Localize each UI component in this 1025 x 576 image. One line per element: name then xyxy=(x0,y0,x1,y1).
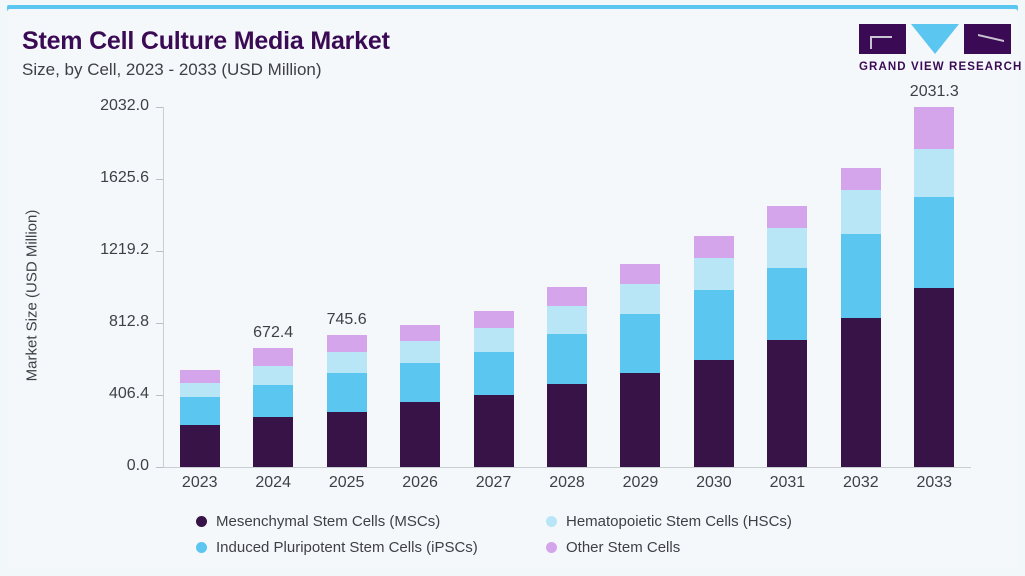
legend-label: Mesenchymal Stem Cells (MSCs) xyxy=(216,513,440,530)
bar-segment[interactable] xyxy=(474,311,514,328)
x-tick-label: 2031 xyxy=(747,474,827,492)
bar-segment[interactable] xyxy=(253,417,293,467)
x-tick-label: 2029 xyxy=(600,474,680,492)
bar-segment[interactable] xyxy=(180,397,220,425)
legend-item[interactable]: Induced Pluripotent Stem Cells (iPSCs) xyxy=(196,539,546,556)
x-tick-label: 2023 xyxy=(160,474,240,492)
bar-segment[interactable] xyxy=(547,334,587,384)
bar-segment[interactable] xyxy=(767,206,807,228)
bar-stack[interactable] xyxy=(400,325,440,467)
bar-segment[interactable] xyxy=(620,373,660,467)
y-tick-mark xyxy=(156,323,163,324)
bar-segment[interactable] xyxy=(400,402,440,467)
bar-stack[interactable] xyxy=(547,287,587,467)
bar-segment[interactable] xyxy=(547,287,587,306)
bar-total-label: 672.4 xyxy=(253,324,293,342)
bar-segment[interactable] xyxy=(253,366,293,385)
bar-segment[interactable] xyxy=(694,290,734,360)
legend-item[interactable]: Hematopoietic Stem Cells (HSCs) xyxy=(546,513,896,530)
bar-segment[interactable] xyxy=(180,370,220,383)
y-tick-label: 0.0 xyxy=(59,457,149,475)
bar-segment[interactable] xyxy=(841,168,881,190)
bar-segment[interactable] xyxy=(474,328,514,352)
bar-segment[interactable] xyxy=(327,335,367,352)
y-tick-mark xyxy=(156,107,163,108)
bar-segment[interactable] xyxy=(327,373,367,412)
bar-segment[interactable] xyxy=(620,264,660,284)
bar-segment[interactable] xyxy=(180,425,220,467)
y-tick-label: 2032.0 xyxy=(59,97,149,115)
bar-segment[interactable] xyxy=(400,325,440,341)
bar-segment[interactable] xyxy=(253,385,293,417)
bar-stack[interactable]: 745.6 xyxy=(327,335,367,467)
bar-segment[interactable] xyxy=(914,149,954,197)
bar-segment[interactable] xyxy=(767,268,807,340)
bar-segment[interactable] xyxy=(914,197,954,288)
x-tick-label: 2033 xyxy=(894,474,974,492)
legend-color-dot-icon xyxy=(546,516,557,527)
bar-segment[interactable] xyxy=(694,258,734,290)
y-axis-line xyxy=(163,107,164,467)
bar-segment[interactable] xyxy=(327,352,367,373)
bar-stack[interactable]: 672.4 xyxy=(253,348,293,467)
bar-segment[interactable] xyxy=(547,384,587,467)
bar-segment[interactable] xyxy=(547,306,587,334)
bar-segment[interactable] xyxy=(841,190,881,234)
bar-segment[interactable] xyxy=(620,284,660,314)
x-tick-label: 2026 xyxy=(380,474,460,492)
bar-segment[interactable] xyxy=(767,340,807,467)
bar-stack[interactable] xyxy=(694,236,734,467)
legend-color-dot-icon xyxy=(196,516,207,527)
bar-segment[interactable] xyxy=(694,236,734,258)
bar-segment[interactable] xyxy=(841,318,881,467)
bar-segment[interactable] xyxy=(253,348,293,366)
legend-label: Hematopoietic Stem Cells (HSCs) xyxy=(566,513,792,530)
x-axis-line xyxy=(163,467,971,468)
x-tick-label: 2030 xyxy=(674,474,754,492)
y-axis-title: Market Size (USD Million) xyxy=(24,146,41,446)
x-tick-label: 2027 xyxy=(454,474,534,492)
x-tick-label: 2025 xyxy=(307,474,387,492)
legend-item[interactable]: Other Stem Cells xyxy=(546,539,896,556)
bar-segment[interactable] xyxy=(180,383,220,397)
x-tick-label: 2024 xyxy=(233,474,313,492)
stacked-bar-chart: Market Size (USD Million) 0.0406.4812.81… xyxy=(0,0,1025,576)
bar-segment[interactable] xyxy=(914,107,954,149)
bar-stack[interactable]: 2031.3 xyxy=(914,107,954,467)
bar-stack[interactable] xyxy=(767,206,807,467)
y-tick-label: 1625.6 xyxy=(59,169,149,187)
bar-stack[interactable] xyxy=(620,264,660,467)
legend-label: Other Stem Cells xyxy=(566,539,680,556)
x-tick-label: 2032 xyxy=(821,474,901,492)
bar-segment[interactable] xyxy=(474,395,514,467)
bar-segment[interactable] xyxy=(620,314,660,373)
legend-color-dot-icon xyxy=(546,542,557,553)
y-tick-mark xyxy=(156,179,163,180)
bar-segment[interactable] xyxy=(327,412,367,467)
y-tick-label: 812.8 xyxy=(59,313,149,331)
bar-segment[interactable] xyxy=(914,288,954,467)
legend-color-dot-icon xyxy=(196,542,207,553)
y-tick-mark xyxy=(156,251,163,252)
bar-total-label: 745.6 xyxy=(327,311,367,329)
y-tick-mark xyxy=(156,395,163,396)
bar-total-label: 2031.3 xyxy=(910,83,959,101)
bar-segment[interactable] xyxy=(841,234,881,318)
bar-segment[interactable] xyxy=(400,341,440,363)
bar-segment[interactable] xyxy=(474,352,514,395)
y-tick-label: 406.4 xyxy=(59,385,149,403)
chart-legend: Mesenchymal Stem Cells (MSCs)Hematopoiet… xyxy=(196,508,896,560)
bar-stack[interactable] xyxy=(841,168,881,467)
legend-item[interactable]: Mesenchymal Stem Cells (MSCs) xyxy=(196,513,546,530)
legend-label: Induced Pluripotent Stem Cells (iPSCs) xyxy=(216,539,478,556)
bar-segment[interactable] xyxy=(400,363,440,402)
bar-segment[interactable] xyxy=(767,228,807,268)
bar-segment[interactable] xyxy=(694,360,734,467)
bar-stack[interactable] xyxy=(180,370,220,467)
chart-page: Stem Cell Culture Media Market Size, by … xyxy=(0,0,1025,576)
bar-stack[interactable] xyxy=(474,311,514,467)
x-tick-label: 2028 xyxy=(527,474,607,492)
y-tick-mark xyxy=(156,467,163,468)
y-tick-label: 1219.2 xyxy=(59,241,149,259)
